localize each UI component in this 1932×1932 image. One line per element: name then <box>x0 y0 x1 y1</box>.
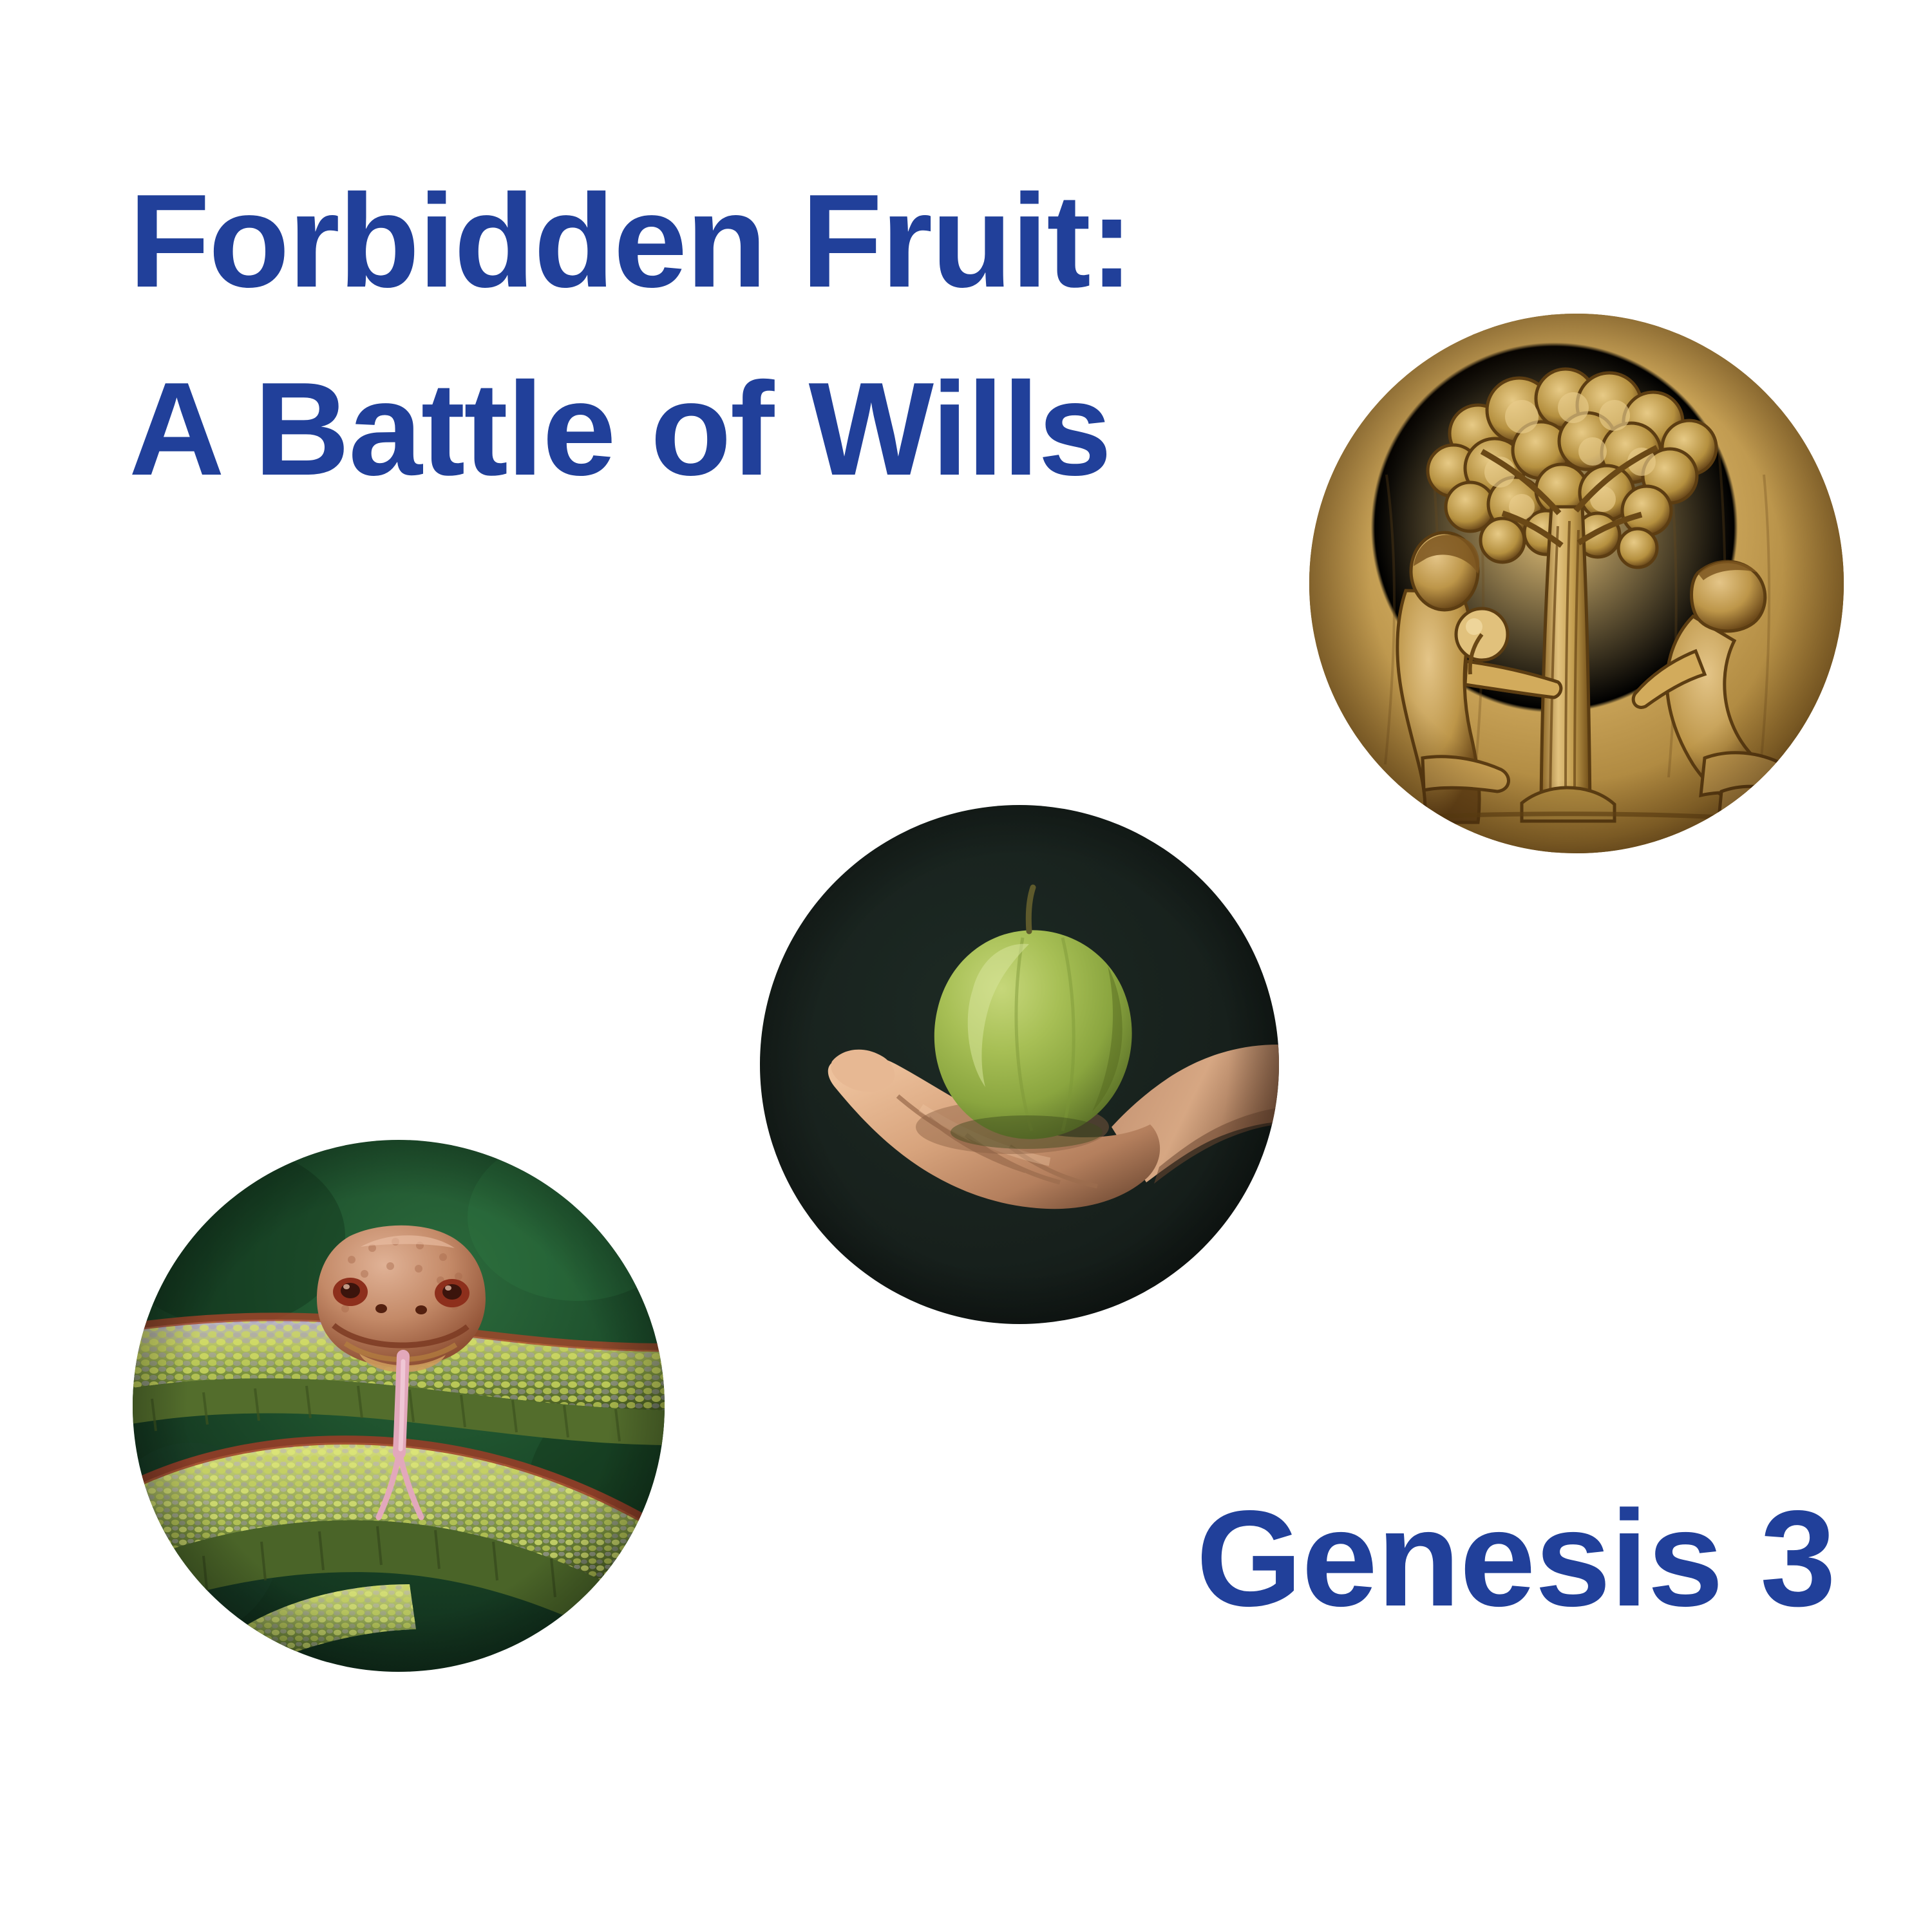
page-title: Forbidden Fruit: A Battle of Wills <box>129 147 1301 523</box>
adam-and-eve-tree-of-knowledge-relief-image <box>1309 314 1844 853</box>
adam-eve-relief-artwork <box>1309 314 1844 853</box>
title-line-2: A Battle of Wills <box>129 335 1301 523</box>
slide-canvas: Forbidden Fruit: A Battle of Wills Genes… <box>0 0 1932 1932</box>
viper-snake-artwork <box>133 1140 665 1672</box>
hand-holding-green-apple-image <box>760 805 1279 1324</box>
scripture-reference: Genesis 3 <box>992 1481 1835 1636</box>
hand-apple-artwork <box>760 805 1279 1324</box>
title-line-1: Forbidden Fruit: <box>129 147 1301 335</box>
coiled-viper-snake-image <box>133 1140 665 1672</box>
